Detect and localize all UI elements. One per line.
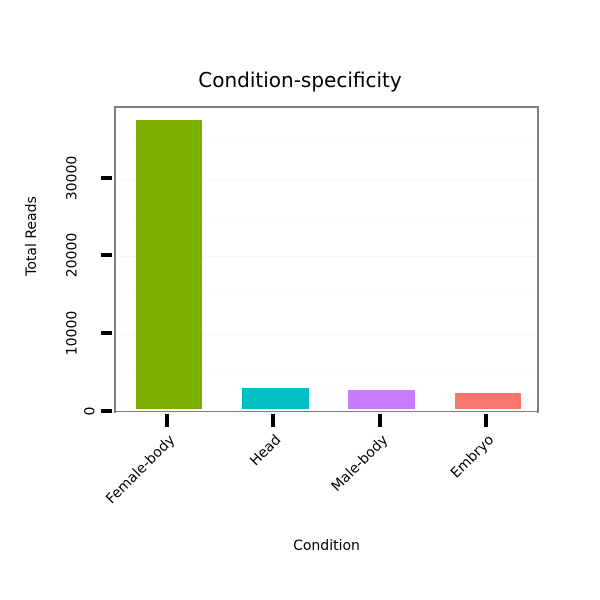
y-tick-mark bbox=[101, 176, 112, 180]
x-tick-label: Female-body bbox=[61, 432, 178, 549]
chart-figure: Condition-specificity 0100002000030000 T… bbox=[0, 0, 600, 600]
x-tick-mark bbox=[378, 414, 382, 427]
y-tick-mark bbox=[101, 253, 112, 257]
x-axis-title: Condition bbox=[114, 538, 539, 554]
bar-male-body bbox=[348, 390, 414, 409]
plot-panel bbox=[114, 106, 539, 413]
y-tick-label-text: 10000 bbox=[66, 311, 80, 356]
x-tick-mark bbox=[484, 414, 488, 427]
x-tick-label: Head bbox=[167, 432, 284, 549]
y-axis-title: Total Reads bbox=[24, 156, 40, 316]
bar-female-body bbox=[136, 120, 202, 409]
y-tick-label-text: 30000 bbox=[66, 155, 80, 200]
y-tick-label: 10000 bbox=[25, 326, 95, 340]
y-tick-mark bbox=[101, 331, 112, 335]
x-tick-label: Embryo bbox=[380, 432, 497, 549]
y-tick-label-text: 20000 bbox=[66, 233, 80, 278]
bar-head bbox=[242, 388, 308, 409]
x-tick-label: Male-body bbox=[274, 432, 391, 549]
plot-area bbox=[116, 108, 537, 411]
x-tick-mark bbox=[165, 414, 169, 427]
y-tick-label: 0 bbox=[25, 404, 95, 418]
bar-embryo bbox=[455, 393, 521, 409]
x-tick-mark bbox=[271, 414, 275, 427]
chart-title: Condition-specificity bbox=[0, 68, 600, 92]
y-tick-label-text: 0 bbox=[84, 407, 98, 416]
y-tick-mark bbox=[101, 409, 112, 413]
gridline-major bbox=[116, 412, 537, 413]
